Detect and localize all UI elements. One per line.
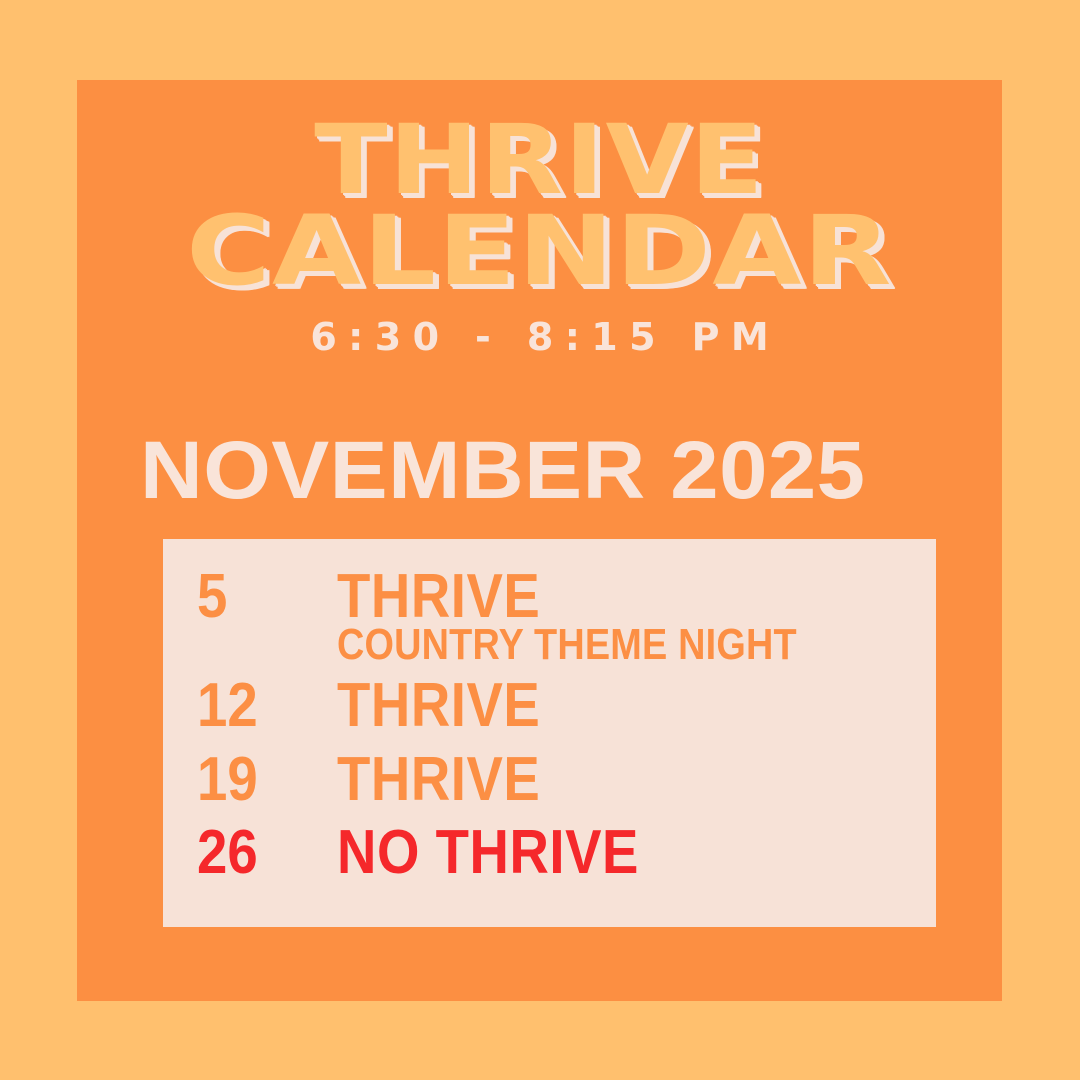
event-date: 5 [197, 565, 320, 628]
event-title: THRIVE [337, 748, 540, 811]
masthead: THRIVE CALENDAR 6:30 - 8:15 PM [77, 116, 1002, 359]
event-date: 19 [197, 748, 320, 811]
event-title: NO THRIVE [337, 821, 639, 884]
event-title: THRIVE [337, 674, 540, 737]
poster-title-line-1: THRIVE [22, 116, 1058, 205]
event-note: COUNTRY THEME NIGHT [337, 622, 797, 668]
event-row: 5 THRIVE [163, 565, 936, 628]
events-card: 5 THRIVE COUNTRY THEME NIGHT 12 THRIVE 1… [163, 539, 936, 927]
row-spacer [163, 738, 936, 748]
event-time-range: 6:30 - 8:15 PM [77, 315, 1002, 359]
event-date: 26 [197, 821, 320, 884]
event-date: 12 [197, 674, 320, 737]
event-note-row: COUNTRY THEME NIGHT [163, 622, 936, 668]
event-row: 26 NO THRIVE [163, 821, 936, 884]
event-title: THRIVE [337, 565, 540, 628]
poster-title-line-2: CALENDAR [0, 207, 1080, 296]
month-heading: NOVEMBER 2025 [140, 430, 988, 512]
event-row: 19 THRIVE [163, 748, 936, 811]
event-row: 12 THRIVE [163, 674, 936, 737]
inner-orange-panel: THRIVE CALENDAR 6:30 - 8:15 PM NOVEMBER … [77, 80, 1002, 1001]
poster-canvas: THRIVE CALENDAR 6:30 - 8:15 PM NOVEMBER … [0, 0, 1080, 1080]
